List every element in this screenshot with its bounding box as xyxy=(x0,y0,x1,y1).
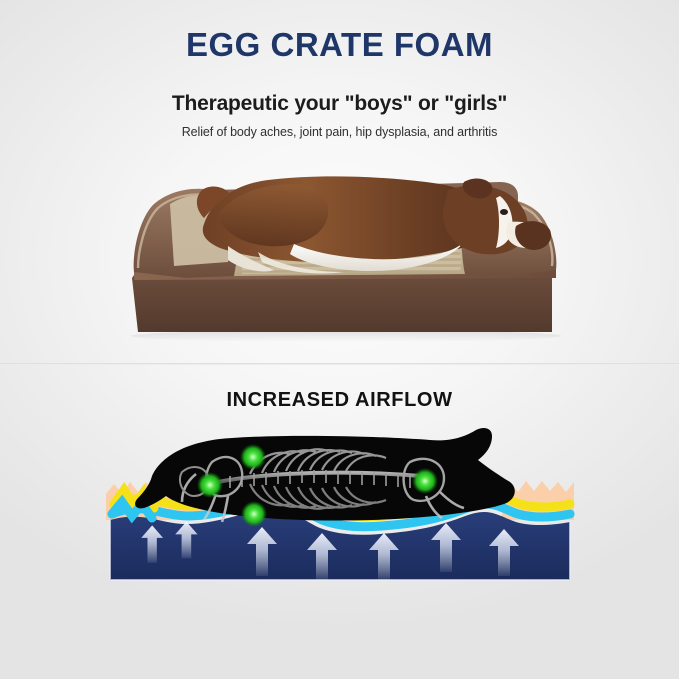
product-photo xyxy=(108,160,576,342)
page-caption: Relief of body aches, joint pain, hip dy… xyxy=(0,125,679,139)
airflow-title: INCREASED AIRFLOW xyxy=(0,389,679,412)
bed-base xyxy=(132,278,552,332)
joint-marker-hip xyxy=(412,468,438,494)
bottom-panel: INCREASED AIRFLOW xyxy=(0,364,679,679)
dog-eye xyxy=(500,209,508,215)
airflow-diagram xyxy=(100,424,580,604)
joint-marker-elbow xyxy=(197,472,223,498)
top-panel: EGG CRATE FOAM Therapeutic your "boys" o… xyxy=(0,0,679,364)
infographic-page: EGG CRATE FOAM Therapeutic your "boys" o… xyxy=(0,0,679,679)
joint-marker-wrist xyxy=(241,501,267,527)
page-title: EGG CRATE FOAM xyxy=(0,26,679,64)
joint-marker-shoulder xyxy=(240,444,266,470)
page-subtitle: Therapeutic your "boys" or "girls" xyxy=(0,92,679,116)
